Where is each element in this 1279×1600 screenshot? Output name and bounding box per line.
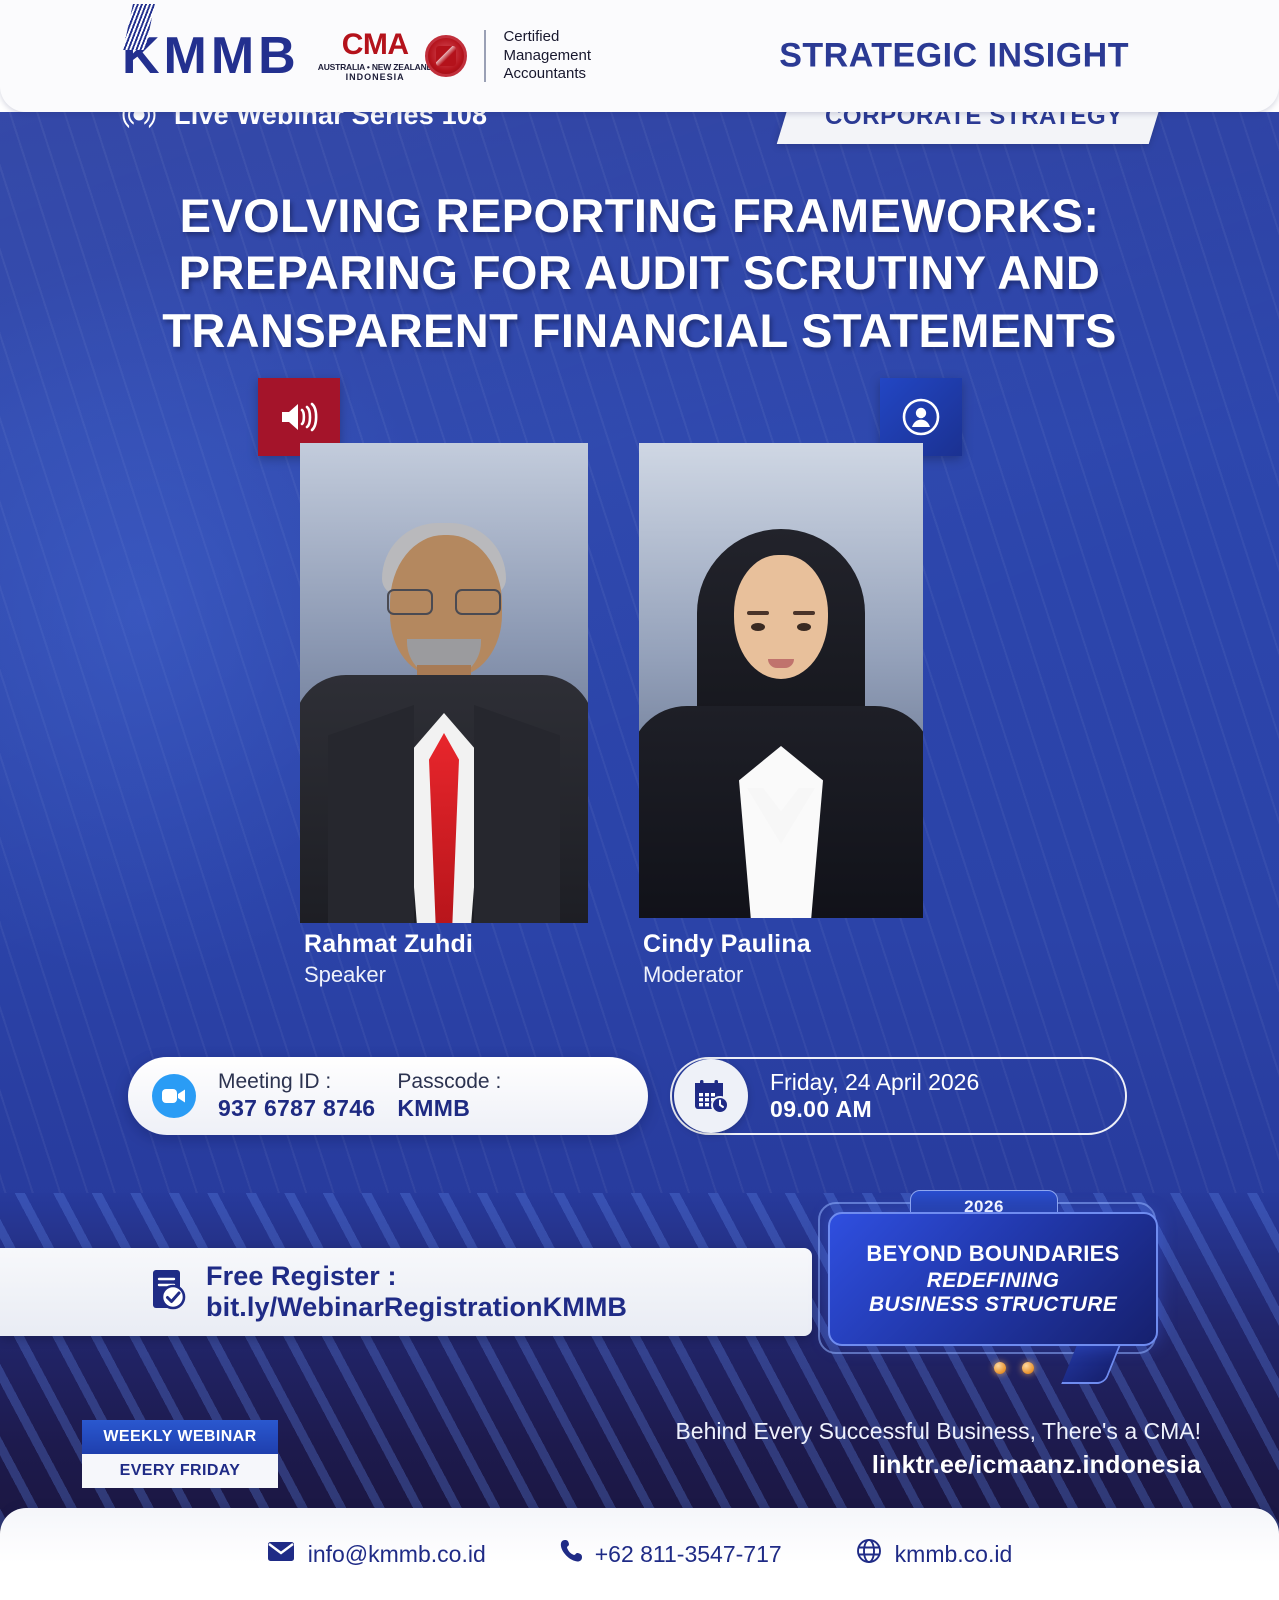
moderator-name: Cindy Paulina [643, 930, 811, 959]
passcode-value: KMMB [397, 1095, 501, 1122]
envelope-icon [267, 1541, 295, 1568]
registration-bar[interactable]: Free Register : bit.ly/WebinarRegistrati… [0, 1248, 812, 1336]
weekly-badge-line-1: WEEKLY WEBINAR [82, 1420, 278, 1454]
footer-email-text: info@kmmb.co.id [308, 1541, 486, 1568]
passcode-block: Passcode : KMMB [397, 1070, 501, 1122]
cma-seal-icon [425, 35, 467, 77]
cma-word: CMA [318, 30, 433, 60]
kmmb-logo: KMMB [122, 30, 300, 82]
speakers-section: Rahmat Zuhdi Speaker [0, 378, 1279, 938]
registration-text: Free Register : bit.ly/WebinarRegistrati… [206, 1261, 812, 1323]
webinar-time: 09.00 AM [770, 1096, 979, 1123]
zoom-camera-icon [152, 1074, 196, 1118]
date-time-pill: Friday, 24 April 2026 09.00 AM [670, 1057, 1127, 1135]
footer-email[interactable]: info@kmmb.co.id [267, 1541, 486, 1568]
footer-website[interactable]: kmmb.co.id [856, 1538, 1013, 1570]
cma-full-name: Certified Management Accountants [503, 28, 591, 84]
cma-name-line-2: Management [503, 47, 591, 66]
weekly-badge-line-2: EVERY FRIDAY [82, 1454, 278, 1488]
date-time-text: Friday, 24 April 2026 09.00 AM [770, 1069, 979, 1123]
speaker-role: Speaker [304, 962, 386, 988]
globe-icon [856, 1538, 882, 1570]
cma-wordmark: CMA AUSTRALIA • NEW ZEALAND INDONESIA [318, 30, 433, 82]
poster-footer: info@kmmb.co.id +62 811-3547-717 kmmb.co… [0, 1508, 1279, 1600]
theme-line-3: BUSINESS STRUCTURE [869, 1293, 1117, 1317]
meeting-info-pill: Meeting ID : 937 6787 8746 Passcode : KM… [128, 1057, 648, 1135]
footer-phone[interactable]: +62 811-3547-717 [560, 1539, 782, 1569]
passcode-label: Passcode : [397, 1070, 501, 1095]
phone-icon [560, 1539, 582, 1569]
moderator-photo [639, 443, 923, 918]
linktree-url[interactable]: linktr.ee/icmaanz.indonesia [675, 1451, 1201, 1480]
meeting-id-label: Meeting ID : [218, 1070, 375, 1095]
registration-form-icon [150, 1268, 190, 1317]
speaker-name: Rahmat Zuhdi [304, 930, 473, 959]
bulb-icon [1022, 1362, 1034, 1374]
meeting-id-value: 937 6787 8746 [218, 1095, 375, 1122]
poster-header: KMMB CMA AUSTRALIA • NEW ZEALAND INDONES… [0, 0, 1279, 112]
page-title: EVOLVING REPORTING FRAMEWORKS: PREPARING… [60, 187, 1219, 359]
webinar-poster: KMMB CMA AUSTRALIA • NEW ZEALAND INDONES… [0, 0, 1279, 1600]
bulb-icon [994, 1362, 1006, 1374]
footer-website-text: kmmb.co.id [895, 1541, 1013, 1568]
divider [484, 30, 486, 82]
theme-card: BEYOND BOUNDARIES REDEFINING BUSINESS ST… [828, 1212, 1158, 1346]
webinar-date: Friday, 24 April 2026 [770, 1069, 979, 1096]
speaker-photo [300, 443, 588, 923]
cma-name-line-3: Accountants [503, 65, 591, 84]
header-title: STRATEGIC INSIGHT [779, 37, 1129, 76]
theme-line-2: REDEFINING [927, 1269, 1060, 1293]
tagline-text: Behind Every Successful Business, There'… [675, 1418, 1201, 1445]
theme-line-1: BEYOND BOUNDARIES [866, 1241, 1119, 1267]
header-logos: KMMB CMA AUSTRALIA • NEW ZEALAND INDONES… [122, 28, 591, 84]
cma-region-line: AUSTRALIA • NEW ZEALAND [318, 62, 433, 72]
cma-tagline: Behind Every Successful Business, There'… [675, 1418, 1201, 1480]
cma-country-line: INDONESIA [318, 72, 433, 82]
meeting-id-block: Meeting ID : 937 6787 8746 [218, 1070, 375, 1122]
cma-logo: CMA AUSTRALIA • NEW ZEALAND INDONESIA Ce… [318, 28, 591, 84]
theme-badge: 2026 BEYOND BOUNDARIES REDEFINING BUSINE… [818, 1190, 1168, 1390]
weekly-webinar-badge: WEEKLY WEBINAR EVERY FRIDAY [82, 1420, 278, 1488]
cma-name-line-1: Certified [503, 28, 591, 47]
footer-phone-text: +62 811-3547-717 [595, 1541, 782, 1568]
moderator-role: Moderator [643, 962, 743, 988]
calendar-clock-icon [674, 1059, 748, 1133]
